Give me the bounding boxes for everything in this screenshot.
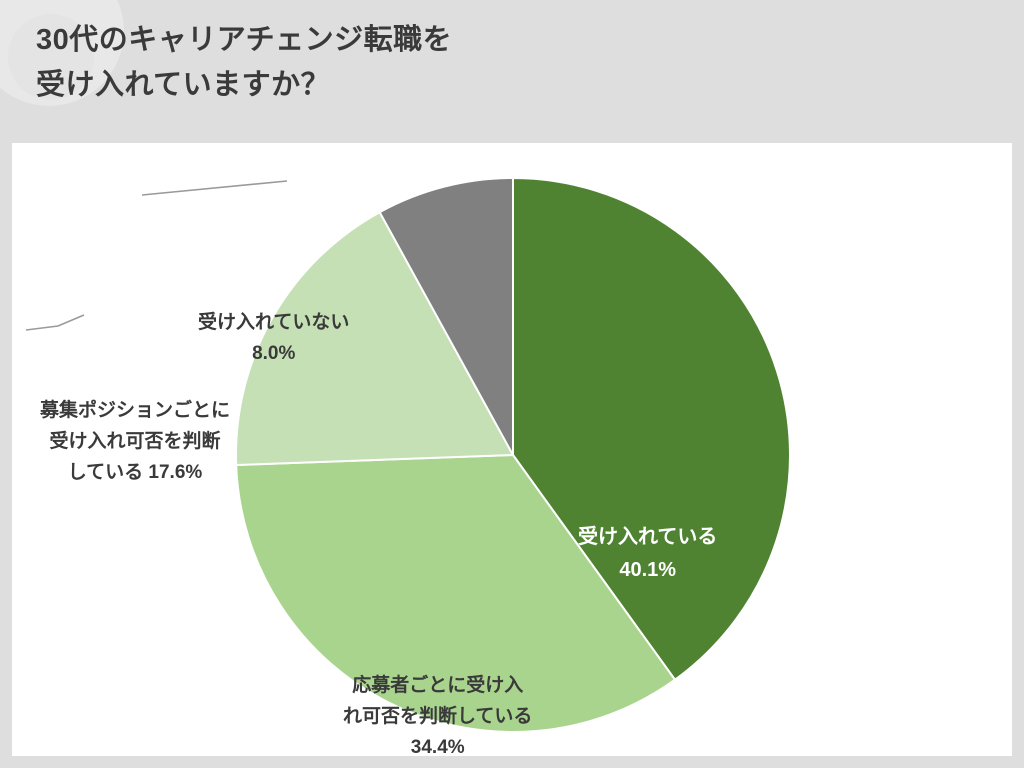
callout-not-accepting-value: 8.0% xyxy=(198,339,349,370)
callout-position-based-line-2: 受け入れ可否を判断 xyxy=(40,427,230,458)
slice-label-accepting: 受け入れている 40.1% xyxy=(578,521,717,587)
chart-card: 受け入れていない 8.0% 募集ポジションごとに 受け入れ可否を判断 している … xyxy=(12,143,1012,756)
callout-position-based-line-1: 募集ポジションごとに xyxy=(40,396,230,427)
page-title-line-2: 受け入れていますか？ xyxy=(36,63,452,108)
callout-position-based: 募集ポジションごとに 受け入れ可否を判断 している 17.6% xyxy=(40,396,230,488)
callout-applicant-based-line-2: れ可否を判断している xyxy=(343,702,532,733)
callout-applicant-based-line-3: 34.4% xyxy=(343,733,532,764)
slice-label-accepting-text: 受け入れている xyxy=(578,521,717,554)
page-title-line-1: 30代のキャリアチェンジ転職を xyxy=(36,18,452,63)
callout-position-based-line-3: している 17.6% xyxy=(40,458,230,489)
page-title: 30代のキャリアチェンジ転職を 受け入れていますか？ xyxy=(36,18,452,108)
callout-not-accepting-label: 受け入れていない xyxy=(198,308,349,339)
callout-not-accepting: 受け入れていない 8.0% xyxy=(198,308,349,370)
callout-applicant-based: 応募者ごとに受け入 れ可否を判断している 34.4% xyxy=(343,671,532,763)
callout-applicant-based-line-1: 応募者ごとに受け入 xyxy=(343,671,532,702)
slice-label-accepting-value: 40.1% xyxy=(578,554,717,587)
